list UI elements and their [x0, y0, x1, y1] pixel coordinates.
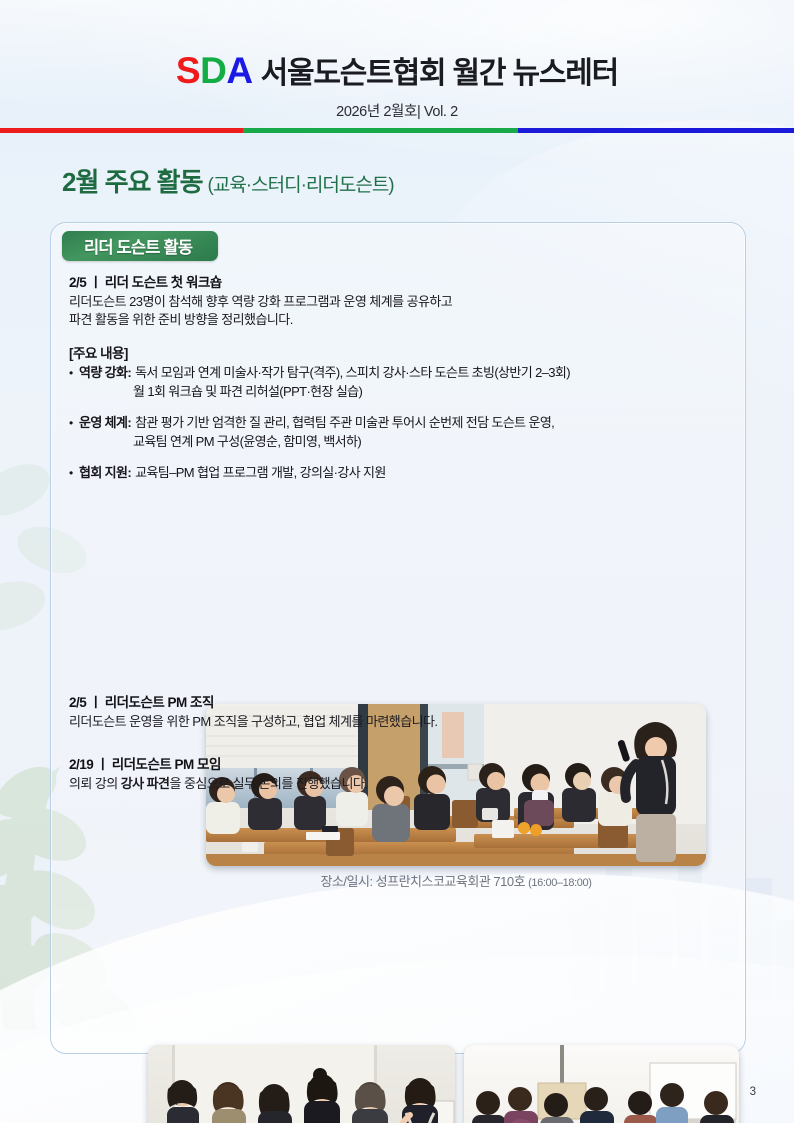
bullet-dot-icon: •	[69, 414, 79, 432]
bullet-item-operations: • 운영 체계:참관 평가 기반 엄격한 질 관리, 협력팀 주관 미술관 투어…	[69, 414, 729, 432]
section-badge: 리더 도슨트 활동	[62, 231, 218, 261]
entry-text-pm-meeting: 의뢰 강의 강사 파견을 중심으로 실무 논의를 진행했습니다.	[69, 775, 729, 793]
photo-caption: 장소/일시: 성프란치스코교육회관 710호 (16:00–18:00)	[206, 871, 706, 890]
spacer	[69, 731, 729, 753]
bullet-text-support: 교육팀–PM 협업 프로그램 개발, 강의실·강사 지원	[135, 465, 386, 480]
bullet-label-capability: 역량 강화:	[79, 365, 131, 380]
pm-meeting-pre: 의뢰 강의	[69, 776, 121, 791]
bullet-dot-icon: •	[69, 464, 79, 482]
entry-title-workshop: 2/5 ㅣ 리더 도슨트 첫 워크숍	[69, 271, 729, 291]
tricolor-divider	[0, 128, 794, 133]
panel-body-lower: 2/5 ㅣ 리더도슨트 PM 조직 리더도슨트 운영을 위한 PM 조직을 구성…	[69, 691, 729, 792]
caption-time: (16:00–18:00)	[528, 877, 591, 889]
caption-place: 장소/일시: 성프란치스코교육회관 710호	[321, 874, 526, 889]
group-standing-photo	[148, 1045, 455, 1123]
bullet-label-operations: 운영 체계:	[79, 415, 131, 430]
panel-body: 2/5 ㅣ 리더 도슨트 첫 워크숍 리더도슨트 23명이 참석해 향후 역량 …	[69, 271, 729, 483]
masthead: SDA서울도슨트협회 월간 뉴스레터	[0, 48, 794, 92]
logo-letter-d: D	[200, 50, 226, 91]
spacer	[69, 328, 729, 342]
meeting-table-photo	[464, 1045, 739, 1123]
bullet-cont-operations: 교육팀 연계 PM 구성(윤영순, 함미영, 백서하)	[69, 433, 729, 451]
bullet-text-capability: 독서 모임과 연계 미술사·작가 탐구(격주), 스피치 강사·스타 도슨트 초…	[135, 365, 570, 380]
bullet-text-operations: 참관 평가 기반 엄격한 질 관리, 협력팀 주관 미술관 투어시 순번제 전담…	[135, 415, 554, 430]
entry-title-pm-org: 2/5 ㅣ 리더도슨트 PM 조직	[69, 691, 729, 711]
page-title-main: 2월 주요 활동	[62, 167, 203, 197]
bullet-item-support: • 협회 지원:교육팀–PM 협업 프로그램 개발, 강의실·강사 지원	[69, 464, 729, 482]
divider-segment-blue	[518, 128, 794, 133]
newsletter-page: SDA서울도슨트협회 월간 뉴스레터 2026년 2월호| Vol. 2 2월 …	[0, 0, 794, 1123]
bullet-item-capability: • 역량 강화:독서 모임과 연계 미술사·작가 탐구(격주), 스피치 강사·…	[69, 364, 729, 382]
divider-segment-green	[243, 128, 518, 133]
content-panel: 리더 도슨트 활동 2/5 ㅣ 리더 도슨트 첫 워크숍 리더도슨트 23명이 …	[50, 222, 746, 1054]
key-points-heading: [주요 내용]	[69, 342, 729, 362]
page-header: SDA서울도슨트협회 월간 뉴스레터 2026년 2월호| Vol. 2	[0, 0, 794, 132]
section-badge-label: 리더 도슨트 활동	[84, 234, 192, 258]
logo-letter-a: A	[226, 50, 252, 91]
entry-text-workshop-line1: 리더도슨트 23명이 참석해 향후 역량 강화 프로그램과 운영 체계를 공유하…	[69, 293, 729, 311]
bullet-label-support: 협회 지원:	[79, 465, 131, 480]
divider-segment-red	[0, 128, 243, 133]
page-title: 2월 주요 활동(교육·스터디·리더도슨트)	[62, 162, 394, 199]
newsletter-title: 서울도슨트협회 월간 뉴스레터	[261, 57, 618, 90]
pm-meeting-post: 을 중심으로 실무 논의를 진행했습니다.	[169, 776, 367, 791]
spacer	[69, 404, 729, 414]
issue-label: 2026년 2월호| Vol. 2	[0, 100, 794, 121]
bullet-cont-capability: 월 1회 워크숍 및 파견 리허설(PPT·현장 실습)	[69, 383, 729, 401]
sda-logo: SDA	[176, 50, 253, 91]
spacer	[69, 454, 729, 464]
bullet-dot-icon: •	[69, 364, 79, 382]
entry-text-workshop-line2: 파견 활동을 위한 준비 방향을 정리했습니다.	[69, 311, 729, 329]
logo-letter-s: S	[176, 50, 200, 91]
entry-text-pm-org: 리더도슨트 운영을 위한 PM 조직을 구성하고, 협업 체계를 마련했습니다.	[69, 713, 729, 731]
page-title-sub: (교육·스터디·리더도슨트)	[208, 175, 394, 196]
entry-title-pm-meeting: 2/19 ㅣ 리더도슨트 PM 모임	[69, 753, 729, 773]
pm-meeting-emphasis: 강사 파견	[121, 776, 170, 791]
page-number: 3	[750, 1086, 756, 1098]
